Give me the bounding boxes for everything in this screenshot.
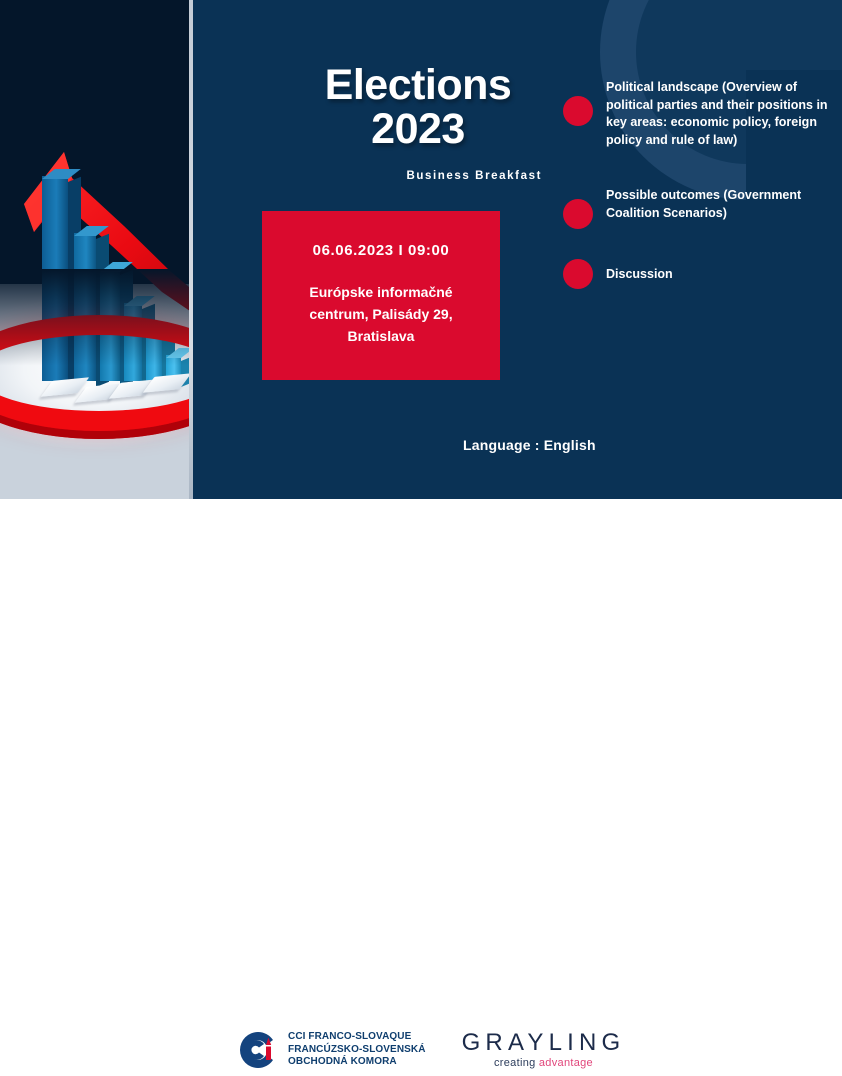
event-details-box: 06.06.2023 I 09:00 Európske informačné c… [262, 211, 500, 380]
event-datetime: 06.06.2023 I 09:00 [262, 242, 500, 259]
cci-text-line-1: CCI FRANCO-SLOVAQUE [288, 1031, 426, 1044]
event-venue: Európske informačné centrum, Palisády 29… [262, 281, 500, 347]
agenda-item: Discussion [563, 259, 833, 289]
cci-text-line-3: OBCHODNÁ KOMORA [288, 1056, 426, 1069]
bullet-dot-icon [563, 96, 593, 126]
bullet-dot-icon [563, 259, 593, 289]
cci-logo: CCI FRANCO-SLOVAQUE FRANCÚZSKO-SLOVENSKÁ… [236, 1029, 426, 1071]
bullet-dot-icon [563, 199, 593, 229]
agenda-item-text: Discussion [606, 259, 673, 284]
venue-line-1: Európske informačné [274, 281, 488, 303]
title-block: Elections 2023 Business Breakfast [288, 63, 548, 182]
language-note: Language : English [463, 437, 596, 453]
venue-line-3: Bratislava [274, 325, 488, 347]
grayling-wordmark: GRAYLING [461, 1030, 626, 1056]
grayling-logo: GRAYLING creating advantage [461, 1030, 626, 1070]
venue-line-2: centrum, Palisády 29, [274, 303, 488, 325]
event-poster: Elections 2023 Business Breakfast 06.06.… [0, 0, 842, 596]
page-title-line-1: Elections [288, 63, 548, 107]
agenda-item: Political landscape (Overview of politic… [563, 75, 833, 149]
agenda-item-text: Possible outcomes (Government Coalition … [606, 183, 833, 222]
content-panel: Elections 2023 Business Breakfast 06.06.… [193, 0, 842, 499]
image-vignette [0, 269, 189, 499]
grayling-tagline: creating advantage [461, 1057, 626, 1070]
cci-logo-text: CCI FRANCO-SLOVAQUE FRANCÚZSKO-SLOVENSKÁ… [288, 1031, 426, 1069]
cci-c-mark-icon [236, 1029, 280, 1071]
cci-text-line-2: FRANCÚZSKO-SLOVENSKÁ [288, 1044, 426, 1057]
page-subtitle: Business Breakfast [288, 170, 548, 182]
agenda-list: Political landscape (Overview of politic… [563, 75, 833, 289]
agenda-item-text: Political landscape (Overview of politic… [606, 75, 833, 149]
agenda-item: Possible outcomes (Government Coalition … [563, 183, 833, 229]
page-title-line-2: 2023 [288, 107, 548, 151]
grayling-tagline-part-2: advantage [539, 1057, 593, 1069]
grayling-tagline-part-1: creating [494, 1057, 539, 1069]
left-hero-image [0, 0, 189, 499]
footer: CCI FRANCO-SLOVAQUE FRANCÚZSKO-SLOVENSKÁ… [0, 499, 842, 596]
